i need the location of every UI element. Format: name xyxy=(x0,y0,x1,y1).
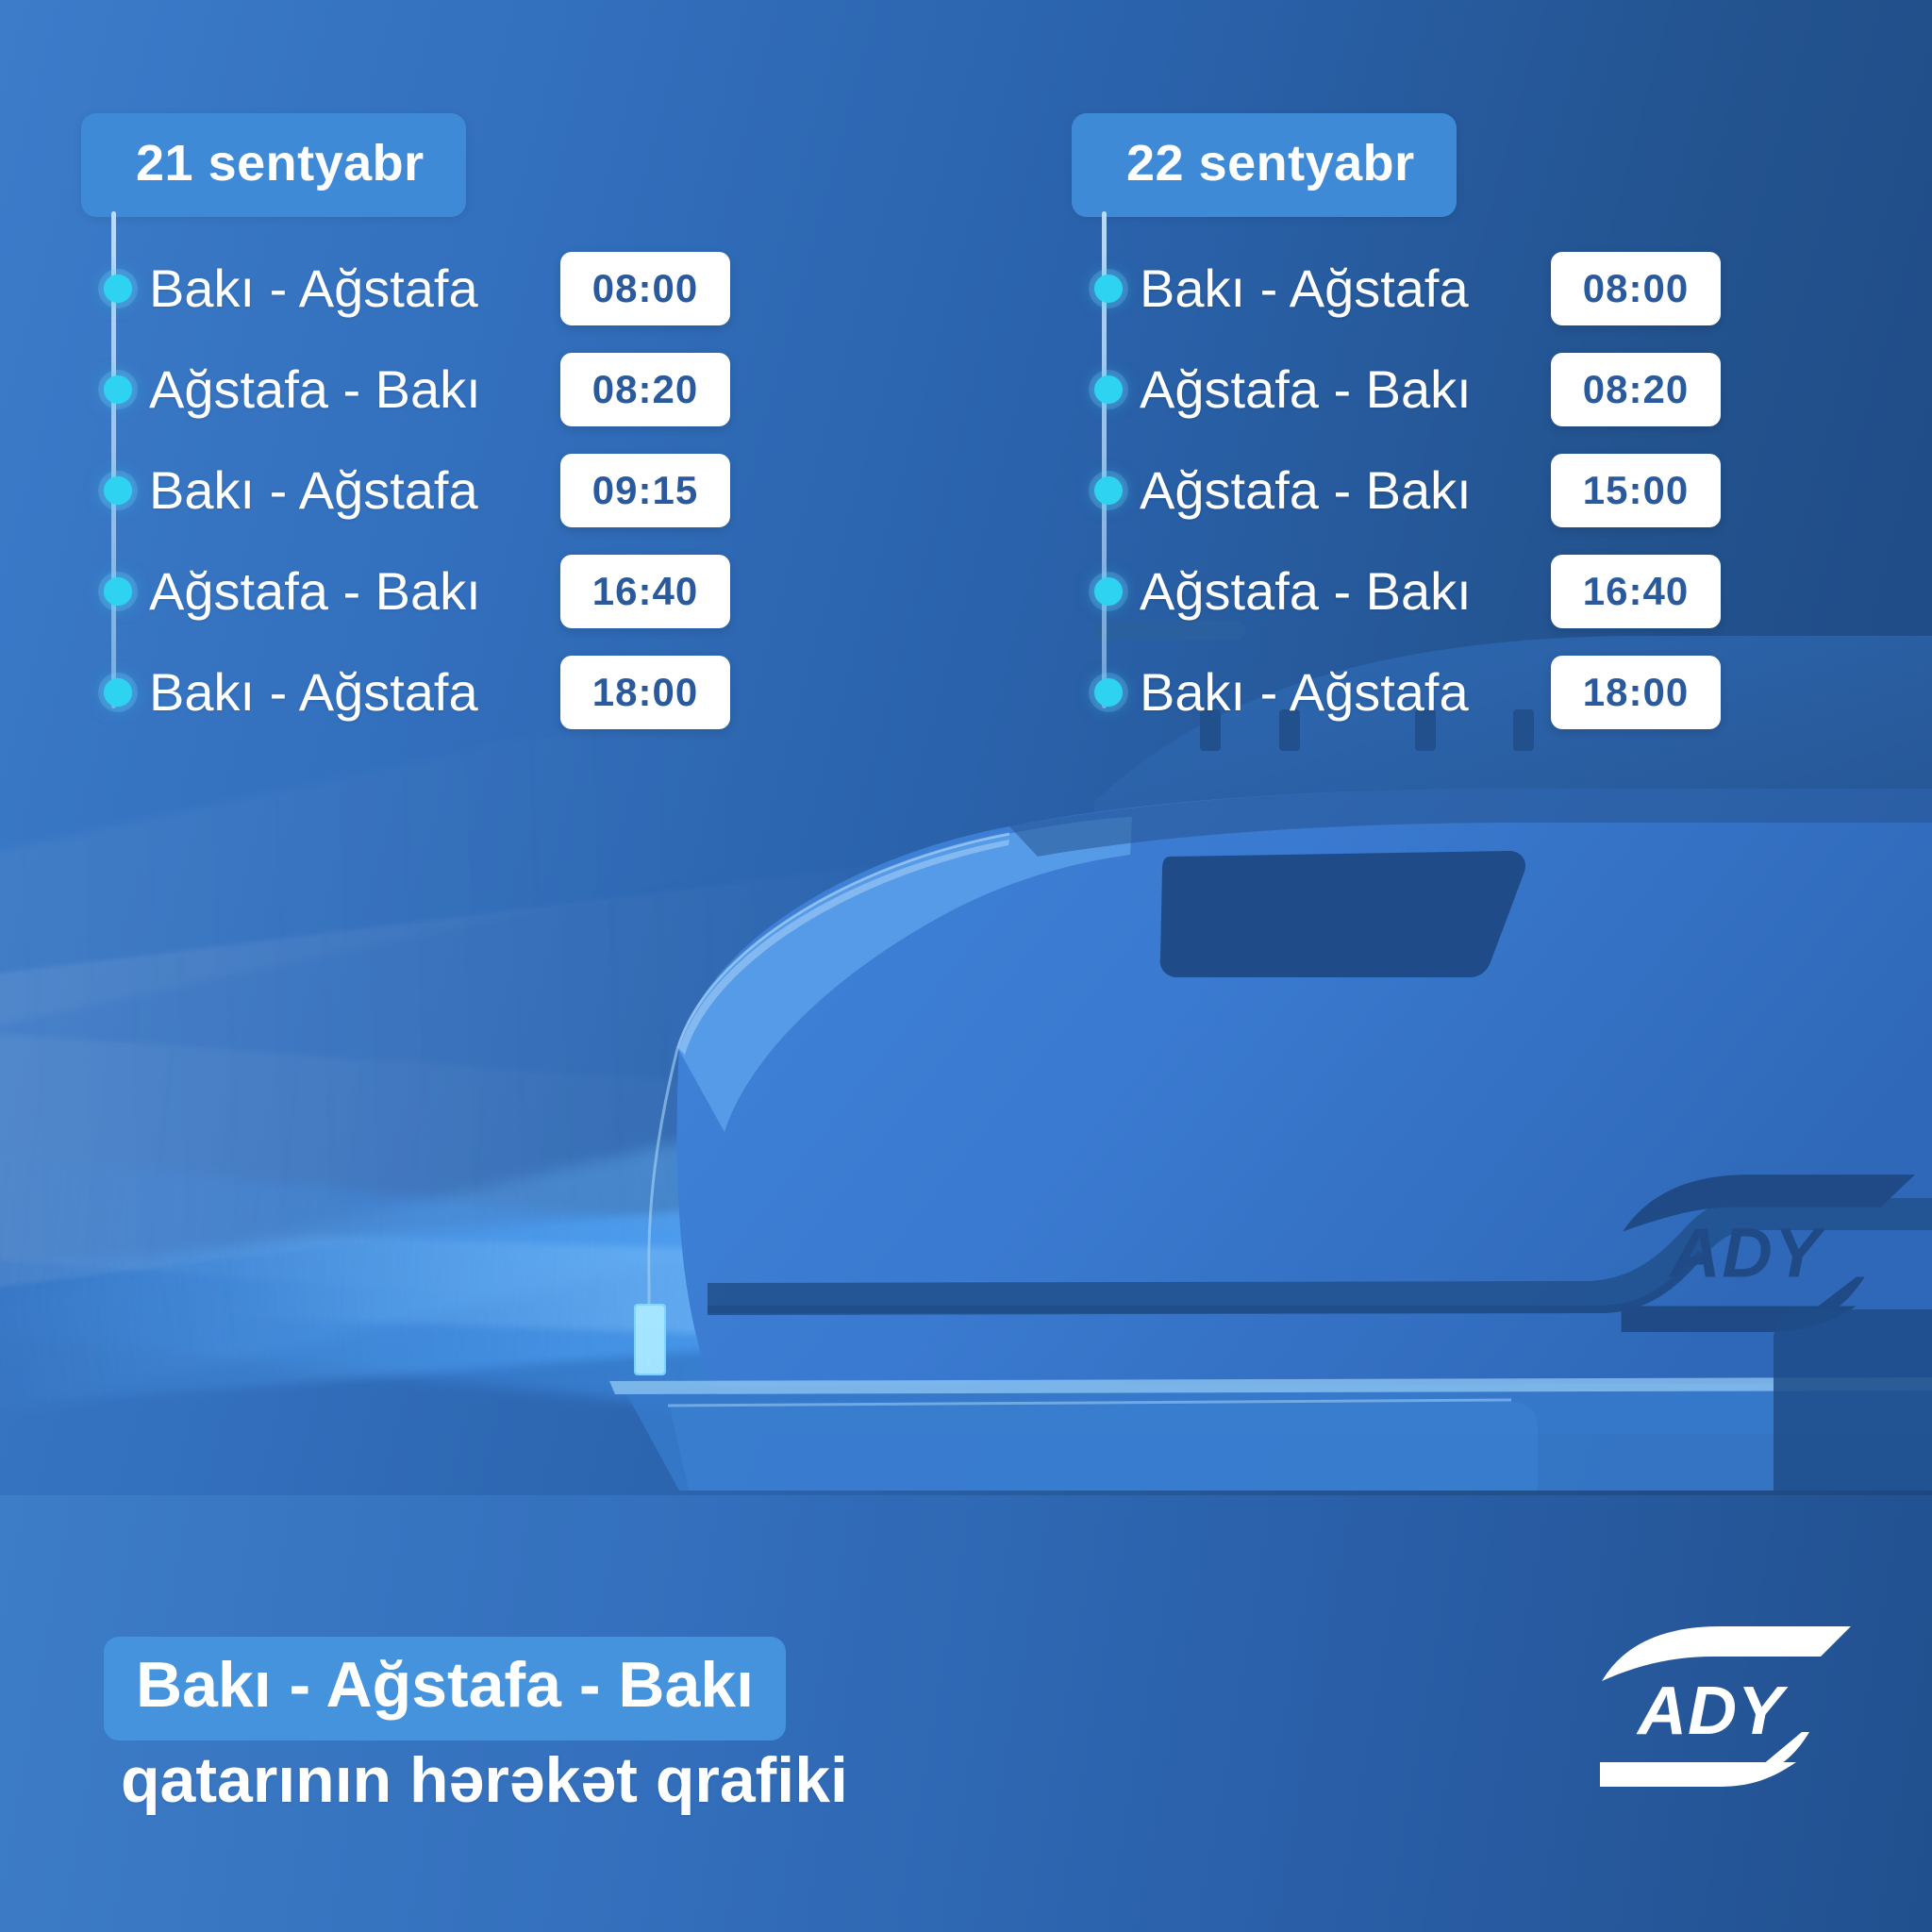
schedule-row[interactable]: Ağstafa - Bakı 15:00 xyxy=(1140,440,1783,541)
timeline-dot-icon xyxy=(104,375,132,404)
route-label: Ağstafa - Bakı xyxy=(149,358,526,420)
schedule-row[interactable]: Bakı - Ağstafa 08:00 xyxy=(1140,238,1783,339)
timeline-dot-icon xyxy=(104,678,132,707)
time-chip: 16:40 xyxy=(1551,555,1721,628)
footer-title-highlight: Bakı - Ağstafa - Bakı xyxy=(104,1637,786,1740)
route-label: Bakı - Ağstafa xyxy=(149,459,526,521)
schedule-row[interactable]: Bakı - Ağstafa 09:15 xyxy=(149,440,792,541)
schedule-row[interactable]: Ağstafa - Bakı 16:40 xyxy=(1140,541,1783,641)
time-chip: 08:20 xyxy=(560,353,730,426)
timeline-dot-icon xyxy=(1094,577,1123,606)
schedule-row[interactable]: Bakı - Ağstafa 18:00 xyxy=(1140,641,1783,742)
poster-canvas: ADY 21 sentyabr Bakı - Ağstafa 08:00 xyxy=(0,0,1932,1932)
ady-logo: ADY xyxy=(1594,1623,1858,1802)
schedule-column-day-1: 21 sentyabr Bakı - Ağstafa 08:00 Ağstafa… xyxy=(94,113,792,742)
schedule-rows-day-2: Bakı - Ağstafa 08:00 Ağstafa - Bakı 08:2… xyxy=(1085,238,1783,742)
footer-title-subline: qatarının hərəkət qrafiki xyxy=(121,1743,848,1817)
timeline-dot-icon xyxy=(1094,375,1123,404)
timeline-dot-icon xyxy=(1094,476,1123,505)
time-chip: 18:00 xyxy=(1551,656,1721,729)
route-label: Bakı - Ağstafa xyxy=(1140,258,1517,319)
route-label: Ağstafa - Bakı xyxy=(149,560,526,622)
schedule-row[interactable]: Ağstafa - Bakı 08:20 xyxy=(149,339,792,440)
route-label: Bakı - Ağstafa xyxy=(149,661,526,723)
time-chip: 16:40 xyxy=(560,555,730,628)
route-label: Ağstafa - Bakı xyxy=(1140,358,1517,420)
timeline-dot-icon xyxy=(104,476,132,505)
schedule-row[interactable]: Ağstafa - Bakı 08:20 xyxy=(1140,339,1783,440)
svg-text:ADY: ADY xyxy=(1668,1214,1825,1292)
time-chip: 18:00 xyxy=(560,656,730,729)
date-badge-day-1: 21 sentyabr xyxy=(81,113,466,217)
time-chip: 09:15 xyxy=(560,454,730,527)
route-label: Ağstafa - Bakı xyxy=(1140,560,1517,622)
schedule-rows-day-1: Bakı - Ağstafa 08:00 Ağstafa - Bakı 08:2… xyxy=(94,238,792,742)
schedule-row[interactable]: Ağstafa - Bakı 16:40 xyxy=(149,541,792,641)
route-label: Ağstafa - Bakı xyxy=(1140,459,1517,521)
schedule-row[interactable]: Bakı - Ağstafa 18:00 xyxy=(149,641,792,742)
time-chip: 15:00 xyxy=(1551,454,1721,527)
time-chip: 08:20 xyxy=(1551,353,1721,426)
schedule-column-day-2: 22 sentyabr Bakı - Ağstafa 08:00 Ağstafa… xyxy=(1085,113,1783,742)
timeline-dot-icon xyxy=(104,577,132,606)
timeline-dot-icon xyxy=(104,275,132,303)
route-label: Bakı - Ağstafa xyxy=(1140,661,1517,723)
timeline-dot-icon xyxy=(1094,275,1123,303)
ady-swoosh-icon: ADY xyxy=(1600,1626,1851,1787)
time-chip: 08:00 xyxy=(560,252,730,325)
route-label: Bakı - Ağstafa xyxy=(149,258,526,319)
ady-logo-text: ADY xyxy=(1636,1674,1789,1749)
time-chip: 08:00 xyxy=(1551,252,1721,325)
timeline-dot-icon xyxy=(1094,678,1123,707)
date-badge-day-2: 22 sentyabr xyxy=(1072,113,1457,217)
schedule-row[interactable]: Bakı - Ağstafa 08:00 xyxy=(149,238,792,339)
